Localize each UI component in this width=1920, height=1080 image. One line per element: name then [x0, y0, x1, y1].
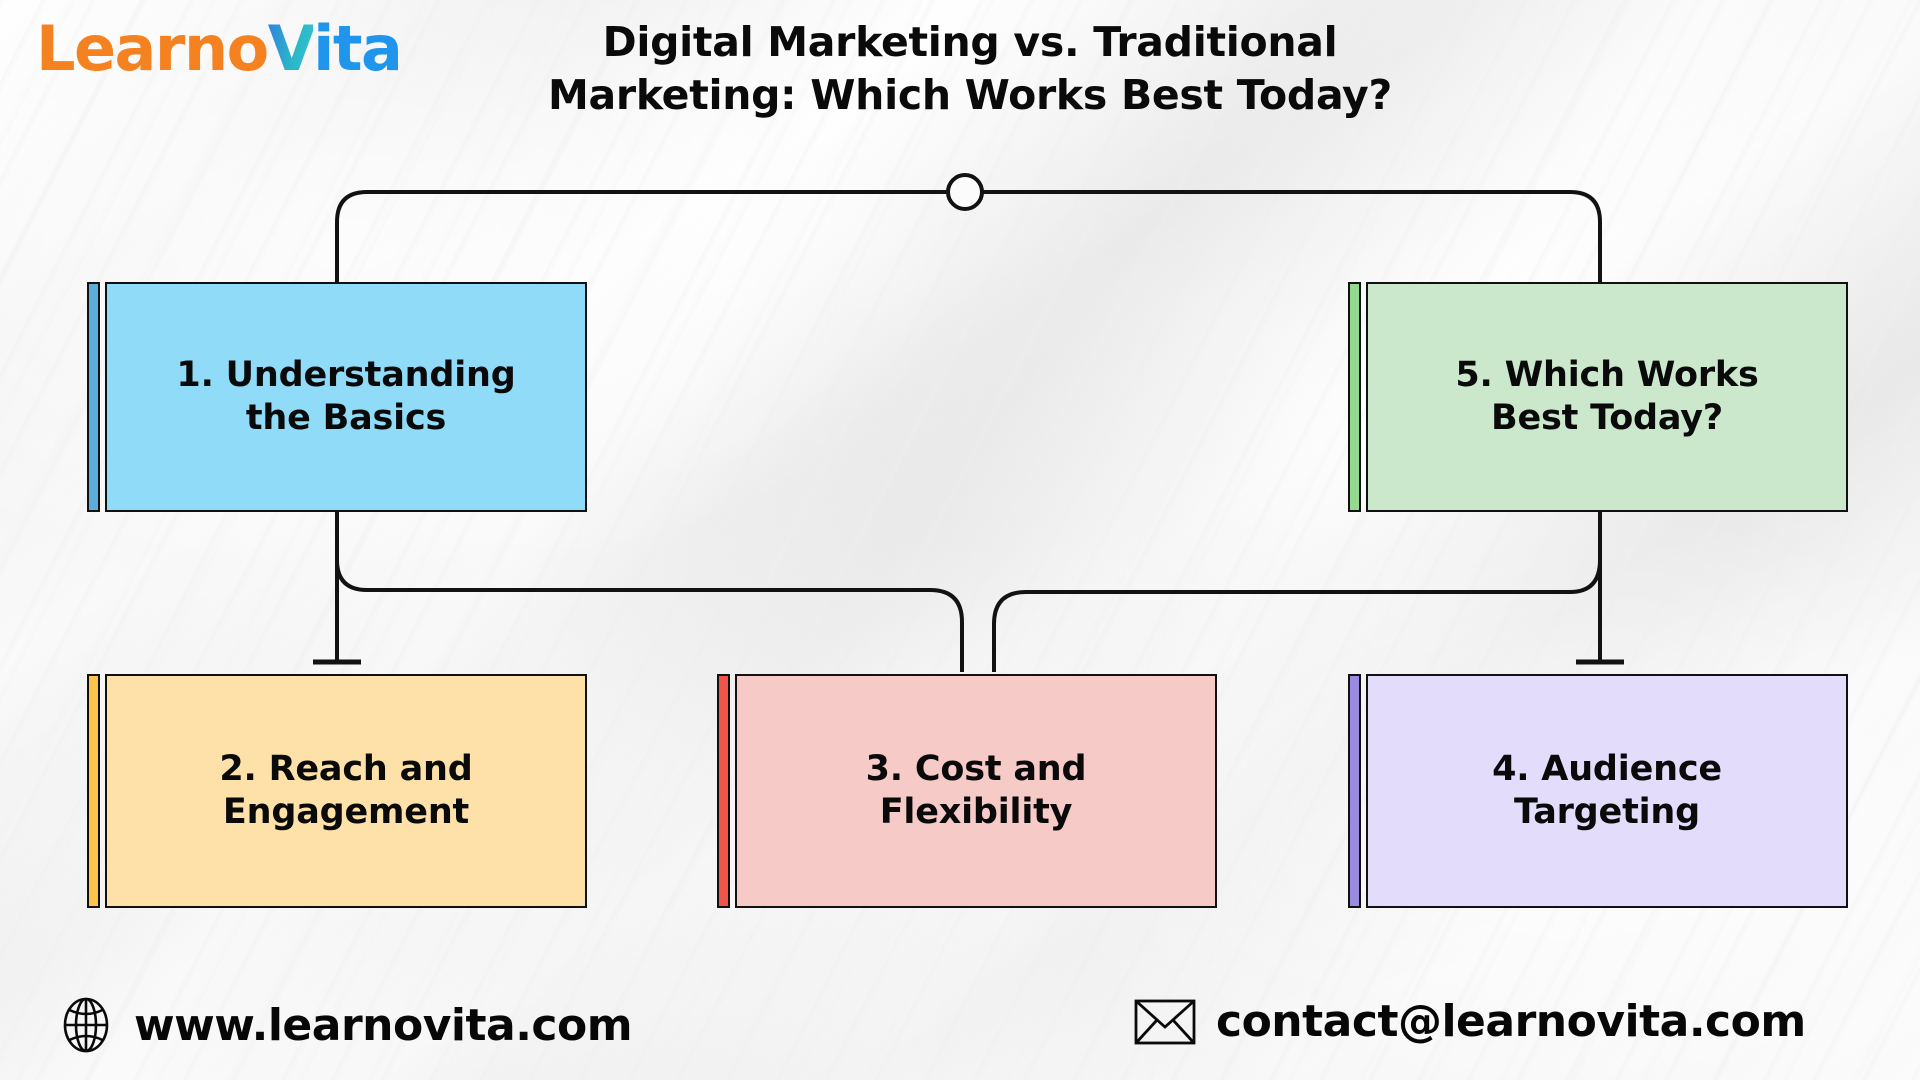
node-3-label-line-2: Flexibility [866, 791, 1087, 834]
connector-lines [0, 0, 1920, 1080]
node-5-label-line-1: 5. Which Works [1455, 354, 1758, 397]
footer-website-text: www.learnovita.com [134, 1000, 632, 1051]
wire-n5-to-n3 [994, 512, 1600, 672]
node-3-body: 3. Cost and Flexibility [735, 674, 1217, 908]
node-2-label-line-2: Engagement [219, 791, 472, 834]
node-4-audience-targeting[interactable]: 4. Audience Targeting [1348, 674, 1848, 908]
footer-website[interactable]: www.learnovita.com [58, 996, 632, 1054]
wire-n1-to-n3 [337, 512, 962, 672]
node-1-accent-bar [87, 282, 100, 512]
node-2-reach-and-engagement[interactable]: 2. Reach and Engagement [87, 674, 587, 908]
node-2-body: 2. Reach and Engagement [105, 674, 587, 908]
node-5-body: 5. Which Works Best Today? [1366, 282, 1848, 512]
circle-node-icon [948, 175, 982, 209]
node-2-label: 2. Reach and Engagement [203, 748, 488, 833]
node-3-label-line-1: 3. Cost and [866, 748, 1087, 791]
node-5-label: 5. Which Works Best Today? [1439, 354, 1774, 439]
node-2-label-line-1: 2. Reach and [219, 748, 472, 791]
node-3-label: 3. Cost and Flexibility [850, 748, 1103, 833]
wire-top-left [337, 192, 947, 282]
node-5-label-line-2: Best Today? [1455, 397, 1758, 440]
node-5-accent-bar [1348, 282, 1361, 512]
infographic-canvas: LearnoVita Digital Marketing vs. Traditi… [0, 0, 1920, 1080]
node-1-understanding-the-basics[interactable]: 1. Understanding the Basics [87, 282, 587, 512]
globe-icon [58, 996, 114, 1054]
footer-email[interactable]: contact@learnovita.com [1134, 996, 1806, 1047]
node-1-label-line-1: 1. Understanding [176, 354, 515, 397]
wire-top-right [983, 192, 1600, 282]
footer-email-text: contact@learnovita.com [1216, 996, 1806, 1047]
node-1-label: 1. Understanding the Basics [160, 354, 531, 439]
node-5-which-works-best-today[interactable]: 5. Which Works Best Today? [1348, 282, 1848, 512]
node-4-body: 4. Audience Targeting [1366, 674, 1848, 908]
node-3-cost-and-flexibility[interactable]: 3. Cost and Flexibility [717, 674, 1217, 908]
node-4-label-line-2: Targeting [1492, 791, 1722, 834]
envelope-icon [1134, 997, 1196, 1047]
node-4-label-line-1: 4. Audience [1492, 748, 1722, 791]
node-4-label: 4. Audience Targeting [1476, 748, 1738, 833]
node-4-accent-bar [1348, 674, 1361, 908]
node-3-accent-bar [717, 674, 730, 908]
node-2-accent-bar [87, 674, 100, 908]
node-1-label-line-2: the Basics [176, 397, 515, 440]
node-1-body: 1. Understanding the Basics [105, 282, 587, 512]
